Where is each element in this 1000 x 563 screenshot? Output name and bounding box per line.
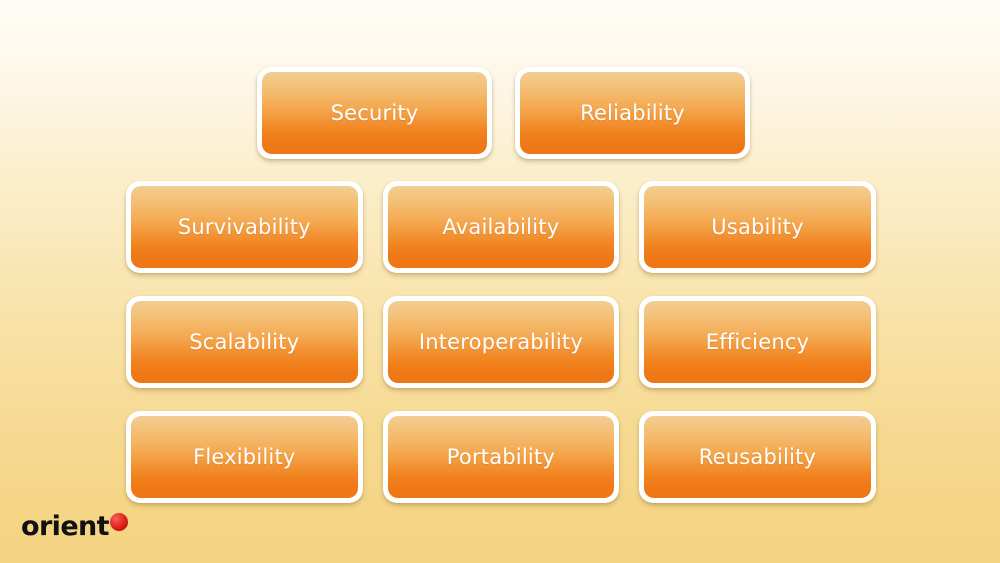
attribute-card-body: Portability	[388, 416, 615, 498]
attribute-card-scalability[interactable]: Scalability	[126, 296, 363, 388]
attribute-card-survivability[interactable]: Survivability	[126, 181, 363, 273]
attribute-card-efficiency[interactable]: Efficiency	[639, 296, 876, 388]
attribute-grid: Security Reliability Survivability Avail…	[0, 0, 1000, 563]
attribute-card-security[interactable]: Security	[257, 67, 492, 159]
attribute-card-body: Efficiency	[644, 301, 871, 383]
attribute-card-body: Reusability	[644, 416, 871, 498]
attribute-card-flexibility[interactable]: Flexibility	[126, 411, 363, 503]
slide-canvas: Security Reliability Survivability Avail…	[0, 0, 1000, 563]
attribute-card-label: Interoperability	[419, 332, 583, 353]
attribute-card-body: Interoperability	[388, 301, 615, 383]
attribute-card-interoperability[interactable]: Interoperability	[383, 296, 620, 388]
attribute-card-label: Reusability	[699, 447, 816, 468]
attribute-card-reliability[interactable]: Reliability	[515, 67, 750, 159]
attribute-card-label: Availability	[442, 217, 559, 238]
attribute-card-label: Flexibility	[193, 447, 295, 468]
attribute-card-body: Reliability	[520, 72, 745, 154]
brand-logo: orient	[21, 510, 128, 542]
red-sphere-icon	[110, 513, 128, 531]
attribute-card-label: Portability	[447, 447, 555, 468]
attribute-card-body: Usability	[644, 186, 871, 268]
attribute-card-body: Flexibility	[131, 416, 358, 498]
attribute-card-label: Reliability	[580, 103, 685, 124]
attribute-card-label: Survivability	[178, 217, 311, 238]
attribute-card-label: Efficiency	[706, 332, 809, 353]
attribute-card-body: Survivability	[131, 186, 358, 268]
attribute-card-availability[interactable]: Availability	[383, 181, 620, 273]
attribute-row-3: Scalability Interoperability Efficiency	[126, 296, 876, 388]
brand-wordmark: orient	[21, 513, 109, 540]
attribute-card-reusability[interactable]: Reusability	[639, 411, 876, 503]
attribute-row-4: Flexibility Portability Reusability	[126, 411, 876, 503]
attribute-card-label: Security	[331, 103, 419, 124]
attribute-card-body: Scalability	[131, 301, 358, 383]
attribute-card-body: Security	[262, 72, 487, 154]
attribute-row-2: Survivability Availability Usability	[126, 181, 876, 273]
attribute-card-body: Availability	[388, 186, 615, 268]
attribute-card-label: Scalability	[189, 332, 299, 353]
attribute-card-portability[interactable]: Portability	[383, 411, 620, 503]
attribute-card-usability[interactable]: Usability	[639, 181, 876, 273]
attribute-row-1: Security Reliability	[257, 67, 750, 159]
attribute-card-label: Usability	[711, 217, 803, 238]
